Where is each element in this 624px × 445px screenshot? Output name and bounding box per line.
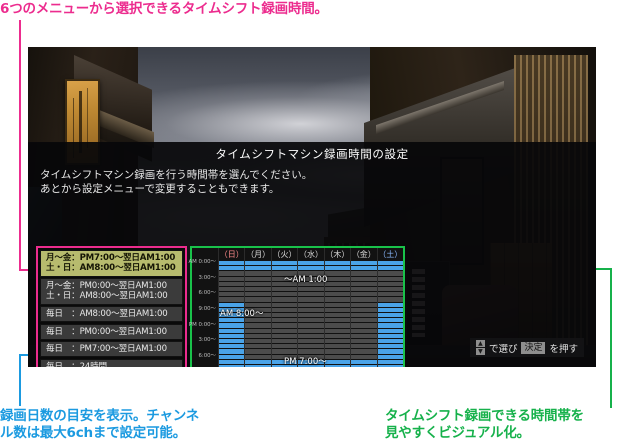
day-header-2: （火）: [271, 248, 297, 261]
day-header-0: （日）: [218, 248, 244, 261]
slot-cell: [378, 365, 403, 367]
day-header-1: （月）: [244, 248, 270, 261]
slot-cell: [351, 365, 376, 367]
day-column-5: [350, 261, 376, 367]
up-down-arrows-icon: ▲▼: [476, 340, 485, 355]
schedule-note-am8: AM 8:00～: [220, 307, 263, 319]
tv-screen-photo: タイムシフトマシン録画時間の設定 タイムシフトマシン録画を行う時間帯を選んでくだ…: [28, 47, 596, 367]
annotation-bottom-left-text: 録画日数の目安を表示。チャンネ ル数は最大6chまで設定可能。: [0, 408, 199, 442]
schedule-note-am1: ～AM 1:00: [284, 273, 327, 285]
menu-item-3[interactable]: 毎日 ：PM0:00～翌日AM1:00: [40, 324, 183, 340]
day-header-5: （金）: [350, 248, 376, 261]
menu-item-0[interactable]: 月～金：PM7:00～翌日AM1:00 土・日：AM8:00～翌日AM1:00: [40, 250, 183, 277]
hint-text-before: で選び: [489, 341, 518, 355]
schedule-time-axis: AM 0:00～3:00～6:00～9:00～PM 0:00～3:00～6:00…: [192, 261, 218, 367]
navigation-hint: ▲▼ で選び 決定 を押す: [470, 338, 584, 357]
day-header-3: （水）: [297, 248, 323, 261]
menu-item-2[interactable]: 毎日 ：AM8:00～翌日AM1:00: [40, 306, 183, 322]
slot-cell: [325, 365, 350, 367]
callout-line-magenta-vertical: [19, 20, 21, 271]
callout-line-blue-vertical: [19, 354, 21, 406]
hint-text-after: を押す: [549, 341, 578, 355]
callout-line-green-vertical: [610, 268, 612, 408]
annotation-bottom-right-text: タイムシフト録画できる時間帯を 見やすくビジュアル化。: [385, 408, 584, 442]
recording-time-menu-list[interactable]: 月～金：PM7:00～翌日AM1:00 土・日：AM8:00～翌日AM1:00 …: [36, 246, 187, 367]
menu-item-5[interactable]: 毎日 ：24時間: [40, 359, 183, 368]
osd-description: タイムシフトマシン録画を行う時間帯を選んでください。 あとから設定メニューで変更…: [40, 168, 312, 196]
day-header-4: （木）: [324, 248, 350, 261]
schedule-heatmap: （日）（月）（火）（水）（木）（金）（土） AM 0:00～3:00～6:00～…: [190, 246, 405, 367]
osd-dialog: タイムシフトマシン録画時間の設定 タイムシフトマシン録画を行う時間帯を選んでくだ…: [28, 142, 596, 367]
day-header-6: （土）: [377, 248, 403, 261]
slot-cell: [219, 365, 244, 367]
osd-title: タイムシフトマシン録画時間の設定: [28, 146, 596, 162]
day-column-4: [324, 261, 350, 367]
annotation-top-text: 6つのメニューから選択できるタイムシフト録画時間。: [0, 1, 328, 18]
time-tick-6: 6:00～: [192, 355, 218, 367]
slot-cell: [245, 365, 270, 367]
menu-item-1[interactable]: 月～金：PM0:00～翌日AM1:00 土・日：AM8:00～翌日AM1:00: [40, 278, 183, 305]
schedule-day-headers: （日）（月）（火）（水）（木）（金）（土）: [218, 248, 403, 261]
day-column-6: [377, 261, 403, 367]
schedule-note-pm7: PM 7:00～: [284, 355, 327, 367]
kettei-key-badge: 決定: [521, 342, 545, 354]
menu-item-4[interactable]: 毎日 ：PM7:00～翌日AM1:00: [40, 341, 183, 357]
screenshot-root: 6つのメニューから選択できるタイムシフト録画時間。 録画日数の目安を表示。チャン…: [0, 0, 624, 445]
